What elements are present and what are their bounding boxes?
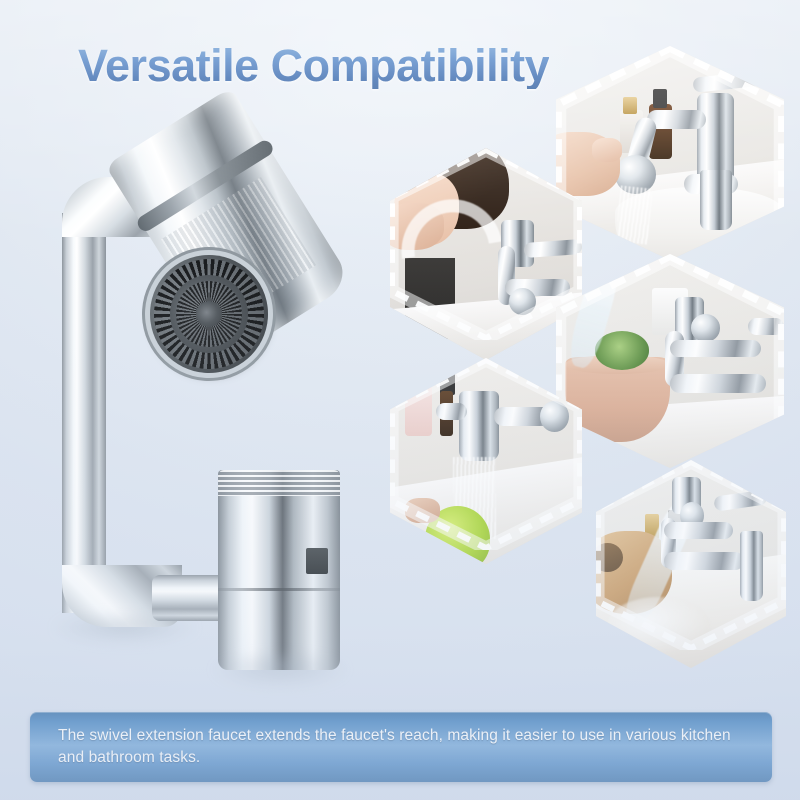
hex-tile-plant-basin — [556, 254, 784, 468]
hex-tile-apple-rinse — [390, 358, 582, 564]
threaded-adapter-connector — [218, 470, 340, 670]
adapter-threads — [218, 470, 340, 496]
hero-product-faucet — [40, 95, 385, 695]
hex-tile-pet-wash — [596, 460, 786, 668]
adapter-marking — [306, 548, 328, 574]
product-banner: Versatile Compatibility — [0, 0, 800, 800]
faucet-vertical-pipe — [62, 213, 106, 613]
caption-bar: The swivel extension faucet extends the … — [30, 712, 772, 782]
hex-tile-bathroom-faucet — [556, 46, 784, 260]
hex-tile-face-wash — [390, 148, 582, 360]
caption-text: The swivel extension faucet extends the … — [30, 725, 772, 770]
